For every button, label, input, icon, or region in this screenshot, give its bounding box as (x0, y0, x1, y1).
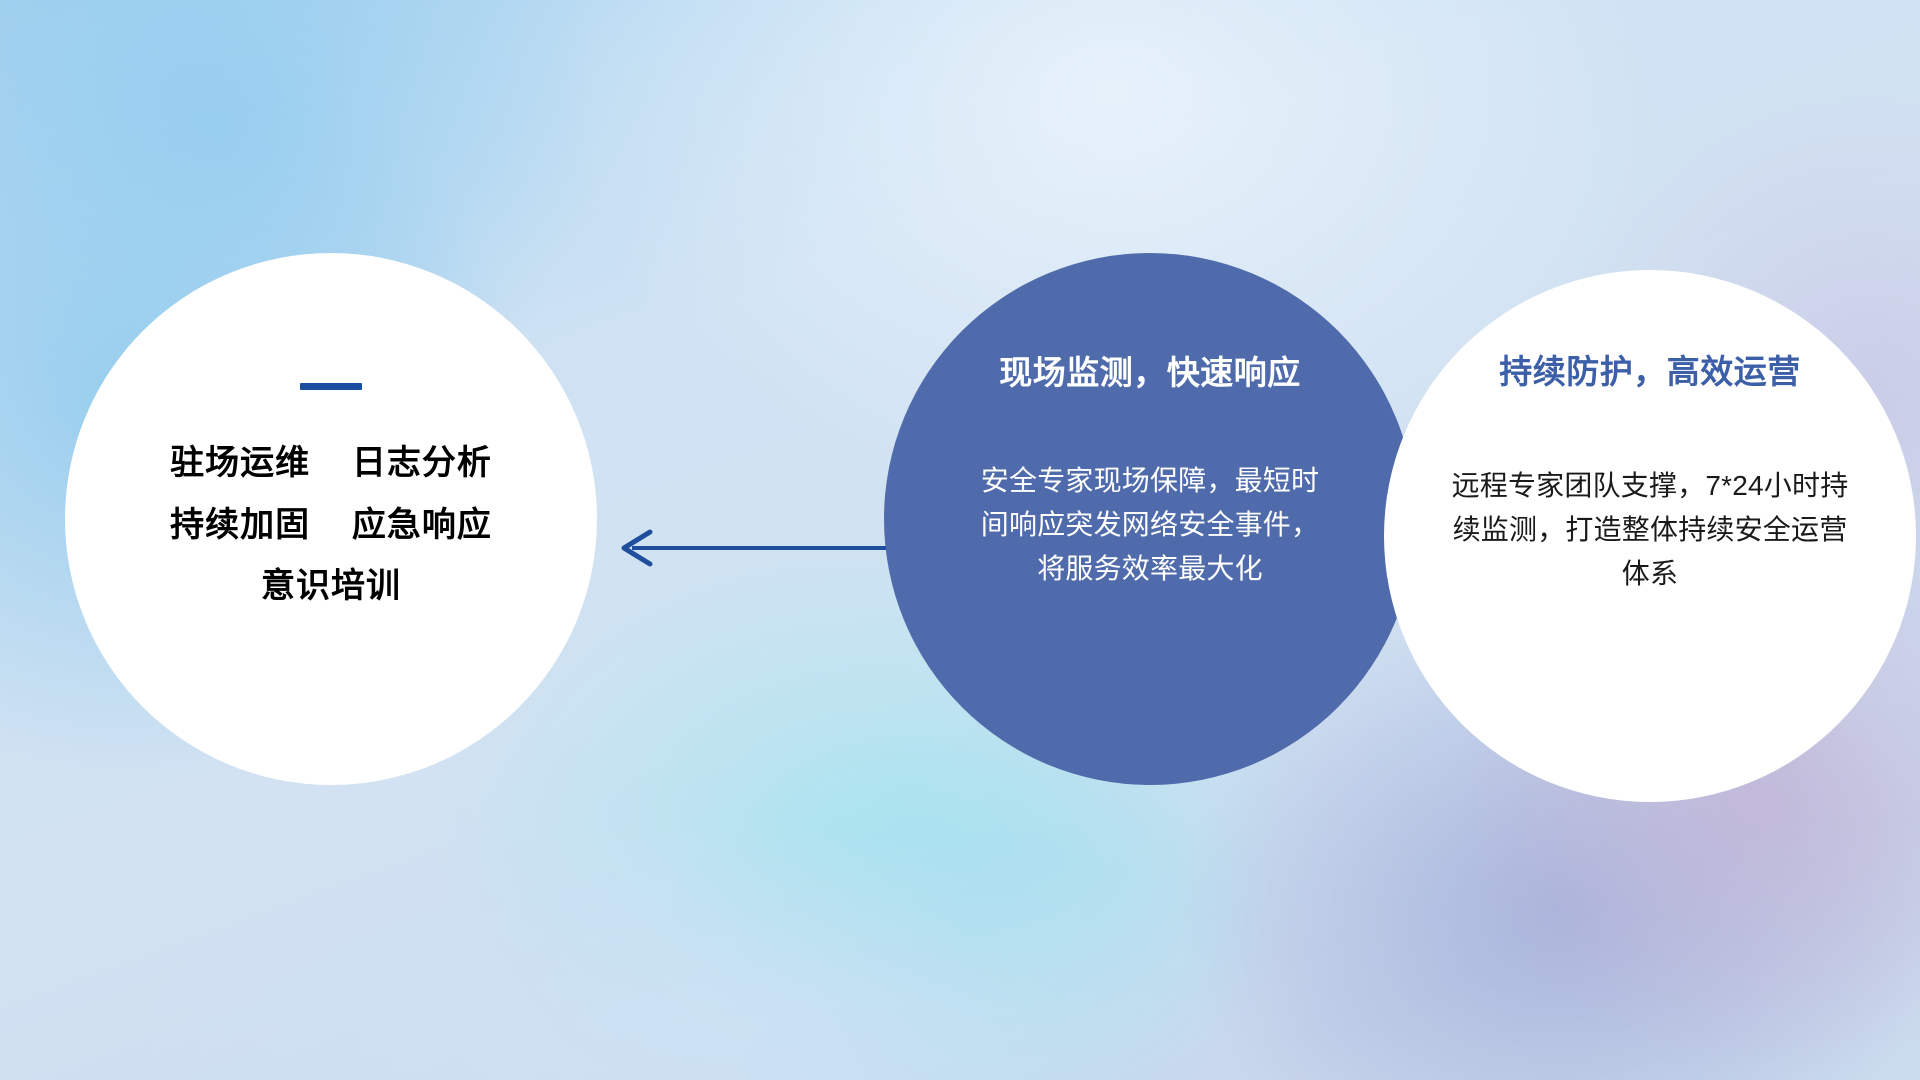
right-circle-card[interactable]: 持续防护，高效运营 远程专家团队支撑，7*24小时持续监测，打造整体持续安全运营… (1384, 270, 1916, 802)
middle-circle-card[interactable]: 现场监测，快速响应 安全专家现场保障，最短时间响应突发网络安全事件，将服务效率最… (884, 253, 1416, 785)
left-circle-card[interactable]: 驻场运维 日志分析 持续加固 应急响应 意识培训 (65, 253, 597, 785)
right-circle-title: 持续防护，高效运营 (1499, 352, 1801, 392)
left-arrow-icon (610, 518, 890, 578)
right-circle-body: 远程专家团队支撑，7*24小时持续监测，打造整体持续安全运营体系 (1440, 464, 1860, 597)
left-circle-keyword-list: 驻场运维 日志分析 持续加固 应急响应 意识培训 (170, 446, 492, 605)
left-circle-line-2: 持续加固 应急响应 (170, 508, 492, 544)
divider-dash-icon (300, 383, 362, 390)
left-circle-line-3: 意识培训 (261, 569, 401, 605)
middle-circle-body: 安全专家现场保障，最短时间响应突发网络安全事件，将服务效率最大化 (975, 459, 1325, 592)
middle-circle-title: 现场监测，快速响应 (999, 353, 1301, 393)
left-circle-line-1: 驻场运维 日志分析 (170, 446, 492, 482)
slide-canvas: 驻场运维 日志分析 持续加固 应急响应 意识培训 现场监测，快速响应 安全专家现… (0, 0, 1920, 1080)
